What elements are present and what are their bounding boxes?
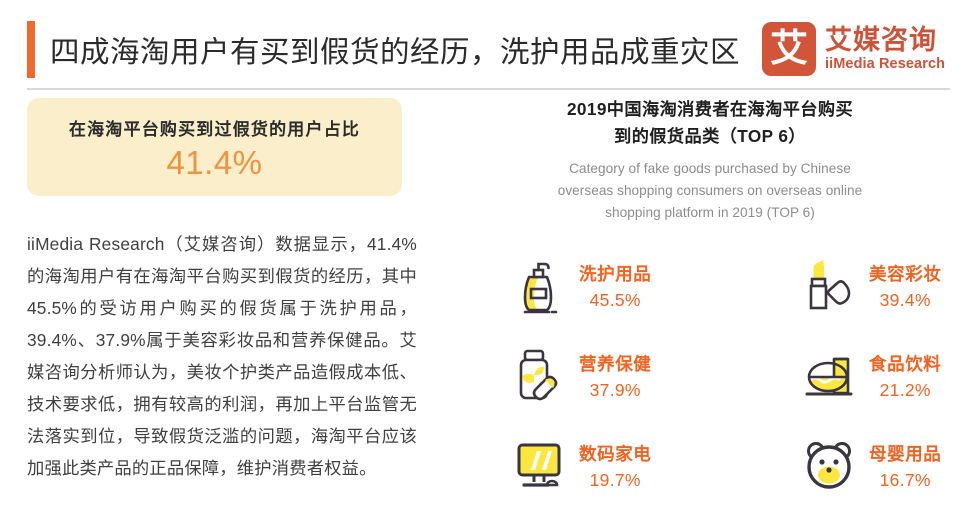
- accent-bar: [27, 21, 35, 78]
- category-text: 营养保健 37.9%: [579, 351, 651, 401]
- panel-title-line-1: 2019中国海淘消费者在海淘平台购买: [470, 96, 950, 123]
- category-value: 21.2%: [880, 380, 931, 401]
- panel-title: 2019中国海淘消费者在海淘平台购买 到的假货品类（TOP 6）: [470, 96, 950, 150]
- panel-subtitle-line-2: overseas shopping consumers on overseas …: [470, 180, 950, 202]
- category-item: 母婴用品 16.7%: [804, 430, 964, 502]
- category-label: 洗护用品: [579, 261, 651, 286]
- category-item: 食品饮料 21.2%: [804, 340, 964, 412]
- header-divider: [27, 88, 950, 90]
- pump-bottle-icon: [514, 257, 568, 315]
- highlight-stat-label: 在海淘平台购买到过假货的用户占比: [69, 115, 360, 140]
- brand-logo: 艾 艾媒咨询 iiMedia Research: [762, 22, 945, 76]
- category-label: 美容彩妆: [869, 261, 941, 286]
- category-text: 洗护用品 45.5%: [579, 261, 651, 311]
- category-text: 美容彩妆 39.4%: [869, 261, 941, 311]
- category-value: 16.7%: [880, 470, 931, 491]
- logo-name-cn: 艾媒咨询: [825, 25, 945, 55]
- left-column: 在海淘平台购买到过假货的用户占比 41.4% iiMedia Research（…: [27, 98, 432, 484]
- panel-subtitle-line-3: shopping platform in 2019 (TOP 6): [470, 202, 950, 224]
- header: 四成海淘用户有买到假货的经历，洗护用品成重灾区 艾 艾媒咨询 iiMedia R…: [0, 0, 977, 92]
- category-item: 洗护用品 45.5%: [514, 250, 674, 322]
- bear-face-icon: [804, 437, 858, 495]
- category-item: 美容彩妆 39.4%: [804, 250, 964, 322]
- category-value: 19.7%: [590, 470, 641, 491]
- bowl-drink-icon: [804, 347, 858, 405]
- supplement-bottle-icon: [514, 347, 568, 405]
- category-item: 数码家电 19.7%: [514, 430, 674, 502]
- panel-subtitle-line-1: Category of fake goods purchased by Chin…: [470, 158, 950, 180]
- panel-subtitle: Category of fake goods purchased by Chin…: [470, 158, 950, 224]
- right-column: 2019中国海淘消费者在海淘平台购买 到的假货品类（TOP 6） Categor…: [470, 96, 950, 502]
- logo-mark-icon: 艾: [762, 22, 816, 76]
- page-title: 四成海淘用户有买到假货的经历，洗护用品成重灾区: [50, 22, 770, 78]
- lipstick-icon: [804, 257, 858, 315]
- body-paragraph: iiMedia Research（艾媒咨询）数据显示，41.4%的海淘用户有在海…: [27, 228, 417, 484]
- category-label: 数码家电: [579, 441, 651, 466]
- logo-text: 艾媒咨询 iiMedia Research: [825, 25, 945, 74]
- panel-title-line-2: 到的假货品类（TOP 6）: [470, 123, 950, 150]
- category-value: 39.4%: [880, 290, 931, 311]
- category-text: 食品饮料 21.2%: [869, 351, 941, 401]
- category-grid: 洗护用品 45.5% 美容彩妆: [470, 250, 950, 502]
- category-text: 数码家电 19.7%: [579, 441, 651, 491]
- monitor-icon: [514, 437, 568, 495]
- category-label: 营养保健: [579, 351, 651, 376]
- category-value: 45.5%: [590, 290, 641, 311]
- category-value: 37.9%: [590, 380, 641, 401]
- logo-name-en: iiMedia Research: [825, 56, 945, 73]
- category-label: 食品饮料: [869, 351, 941, 376]
- infographic-page: 四成海淘用户有买到假货的经历，洗护用品成重灾区 艾 艾媒咨询 iiMedia R…: [0, 0, 977, 530]
- category-text: 母婴用品 16.7%: [869, 441, 941, 491]
- category-item: 营养保健 37.9%: [514, 340, 674, 412]
- category-label: 母婴用品: [869, 441, 941, 466]
- highlight-stat-box: 在海淘平台购买到过假货的用户占比 41.4%: [27, 98, 402, 196]
- highlight-stat-value: 41.4%: [166, 144, 262, 182]
